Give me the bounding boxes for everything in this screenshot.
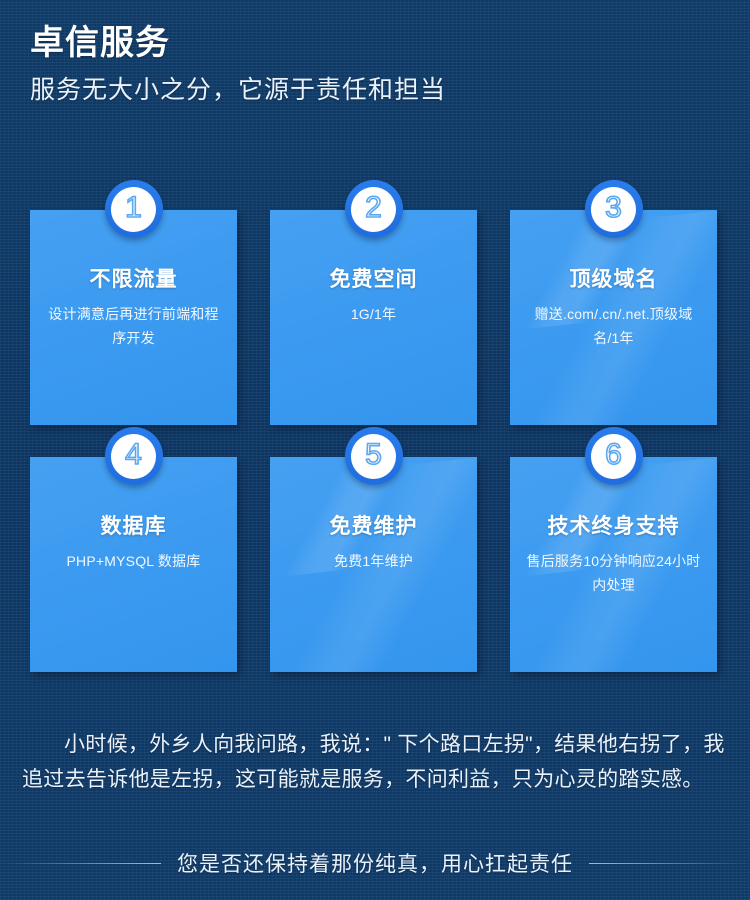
feature-card-6[interactable]: 6 技术终身支持 售后服务10分钟响应24小时内处理 bbox=[510, 457, 717, 672]
badge-inner-circle: 4 bbox=[111, 434, 156, 479]
card-description: 1G/1年 bbox=[282, 302, 465, 326]
card-description: 免费1年维护 bbox=[282, 549, 465, 573]
card-title: 不限流量 bbox=[42, 266, 225, 294]
feature-card-2[interactable]: 2 免费空间 1G/1年 bbox=[270, 210, 477, 425]
number-badge-4: 4 bbox=[105, 427, 163, 485]
badge-number: 6 bbox=[605, 440, 622, 472]
card-title: 顶级域名 bbox=[522, 266, 705, 294]
badge-inner-circle: 6 bbox=[591, 434, 636, 479]
badge-number: 3 bbox=[605, 193, 622, 225]
footer-rule-right bbox=[589, 863, 750, 864]
badge-number: 4 bbox=[125, 440, 142, 472]
card-description: PHP+MYSQL 数据库 bbox=[42, 549, 225, 573]
badge-number: 5 bbox=[365, 440, 382, 472]
card-title: 免费空间 bbox=[282, 266, 465, 294]
card-description: 售后服务10分钟响应24小时内处理 bbox=[522, 549, 705, 597]
footer-rule-left bbox=[0, 863, 161, 864]
badge-number: 2 bbox=[365, 193, 382, 225]
card-title: 数据库 bbox=[42, 513, 225, 541]
page-header: 卓信服务 服务无大小之分，它源于责任和担当 bbox=[30, 20, 720, 110]
service-feature-page: 卓信服务 服务无大小之分，它源于责任和担当 1 不限流量 设计满意后再进行前端和… bbox=[0, 0, 750, 900]
number-badge-5: 5 bbox=[345, 427, 403, 485]
badge-number: 1 bbox=[125, 193, 142, 225]
number-badge-6: 6 bbox=[585, 427, 643, 485]
story-paragraph: 小时候，外乡人向我问路，我说：" 下个路口左拐"，结果他右拐了，我追过去告诉他是… bbox=[22, 727, 728, 797]
feature-card-4[interactable]: 4 数据库 PHP+MYSQL 数据库 bbox=[30, 457, 237, 672]
card-title: 技术终身支持 bbox=[522, 513, 705, 541]
badge-inner-circle: 1 bbox=[111, 187, 156, 232]
card-title: 免费维护 bbox=[282, 513, 465, 541]
footer-slogan: 您是否还保持着那份纯真，用心扛起责任 bbox=[0, 845, 750, 881]
card-description: 赠送.com/.cn/.net.顶级域名/1年 bbox=[522, 302, 705, 350]
footer-text: 您是否还保持着那份纯真，用心扛起责任 bbox=[161, 848, 589, 878]
feature-card-grid: 1 不限流量 设计满意后再进行前端和程序开发 2 免费空间 1G/1年 bbox=[30, 210, 720, 672]
feature-card-5[interactable]: 5 免费维护 免费1年维护 bbox=[270, 457, 477, 672]
page-title: 卓信服务 bbox=[30, 20, 720, 66]
badge-inner-circle: 2 bbox=[351, 187, 396, 232]
feature-card-1[interactable]: 1 不限流量 设计满意后再进行前端和程序开发 bbox=[30, 210, 237, 425]
number-badge-2: 2 bbox=[345, 180, 403, 238]
number-badge-3: 3 bbox=[585, 180, 643, 238]
number-badge-1: 1 bbox=[105, 180, 163, 238]
feature-card-3[interactable]: 3 顶级域名 赠送.com/.cn/.net.顶级域名/1年 bbox=[510, 210, 717, 425]
badge-inner-circle: 3 bbox=[591, 187, 636, 232]
card-description: 设计满意后再进行前端和程序开发 bbox=[42, 302, 225, 350]
badge-inner-circle: 5 bbox=[351, 434, 396, 479]
page-subtitle: 服务无大小之分，它源于责任和担当 bbox=[30, 70, 720, 110]
